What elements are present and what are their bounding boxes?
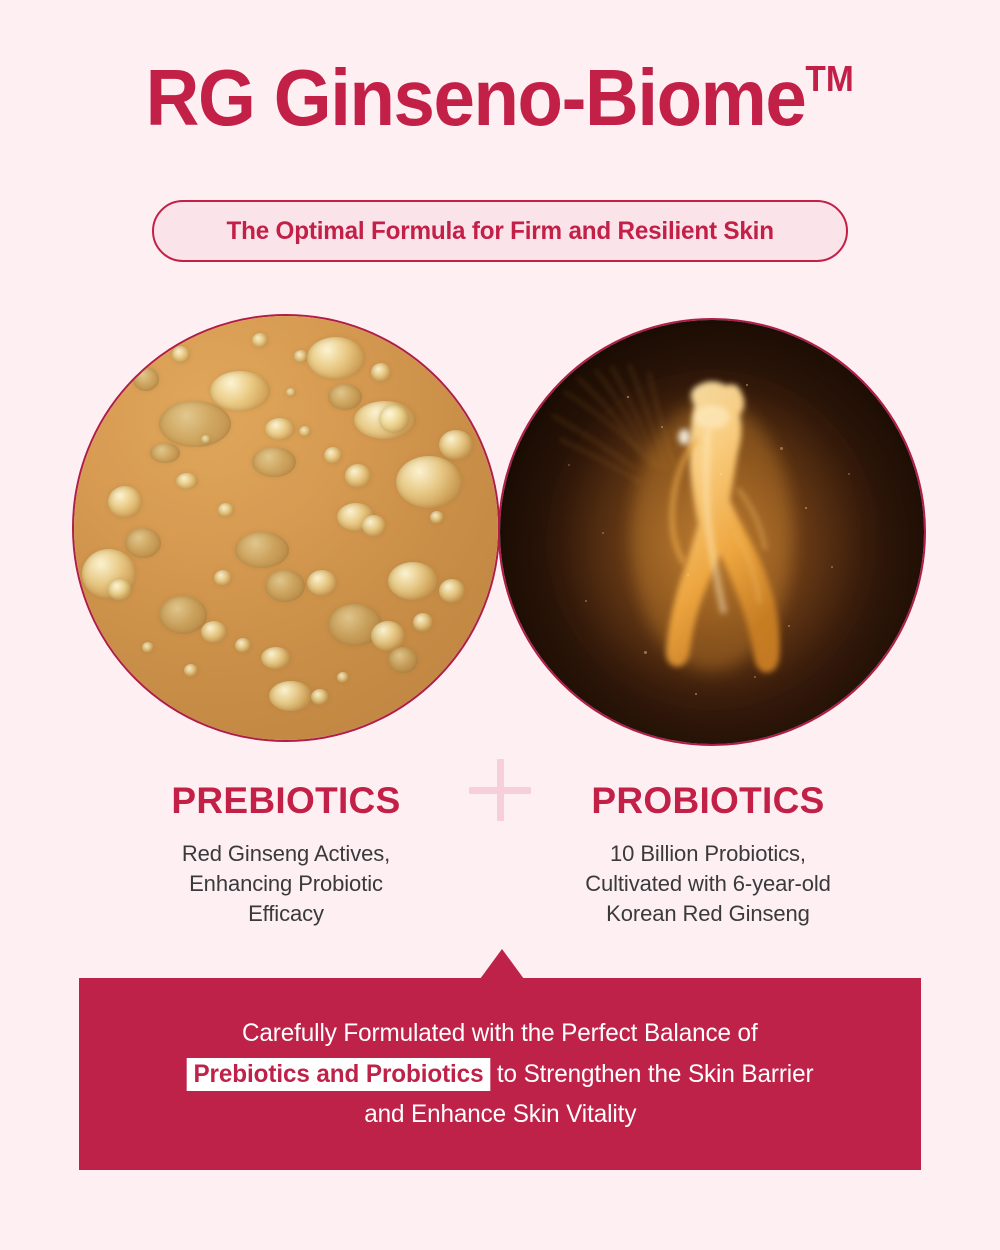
- prebiotics-image: [72, 314, 500, 742]
- banner-highlight: Prebiotics and Probiotics: [187, 1058, 491, 1091]
- banner-line-3: and Enhance Skin Vitality: [364, 1094, 636, 1135]
- prebiotics-description-line: Red Ginseng Actives,: [86, 839, 486, 869]
- page-title-text: RG Ginseno-Biome: [146, 53, 806, 142]
- probiotics-description-line: Korean Red Ginseng: [508, 899, 908, 929]
- subtitle-text: The Optimal Formula for Firm and Resilie…: [226, 217, 773, 246]
- prebiotics-title: PREBIOTICS: [86, 782, 486, 819]
- probiotics-description-line: Cultivated with 6-year-old: [508, 869, 908, 899]
- prebiotics-column: PREBIOTICS Red Ginseng Actives, Enhancin…: [86, 782, 486, 929]
- page-title: RG Ginseno-BiomeTM: [0, 58, 1000, 138]
- plus-icon: [469, 759, 531, 821]
- probiotics-description: 10 Billion Probiotics, Cultivated with 6…: [508, 839, 908, 929]
- prebiotics-description-line: Efficacy: [86, 899, 486, 929]
- prebiotics-description-line: Enhancing Probiotic: [86, 869, 486, 899]
- prebiotics-description: Red Ginseng Actives, Enhancing Probiotic…: [86, 839, 486, 929]
- probiotics-column: PROBIOTICS 10 Billion Probiotics, Cultiv…: [508, 782, 908, 929]
- trademark-symbol: TM: [806, 58, 854, 99]
- ingredient-images: [0, 314, 1000, 744]
- banner-line-1: Carefully Formulated with the Perfect Ba…: [242, 1013, 758, 1054]
- probiotics-description-line: 10 Billion Probiotics,: [508, 839, 908, 869]
- ginseng-root-illustration: [500, 320, 924, 744]
- probiotics-title: PROBIOTICS: [508, 782, 908, 819]
- summary-banner: Carefully Formulated with the Perfect Ba…: [79, 978, 921, 1170]
- banner-line-2: Prebiotics and Probiotics to Strengthen …: [187, 1054, 814, 1095]
- banner-notch-triangle: [480, 949, 524, 979]
- subtitle-pill: The Optimal Formula for Firm and Resilie…: [152, 200, 848, 262]
- probiotics-image: [498, 318, 926, 746]
- banner-line-2-rest: to Strengthen the Skin Barrier: [490, 1060, 813, 1088]
